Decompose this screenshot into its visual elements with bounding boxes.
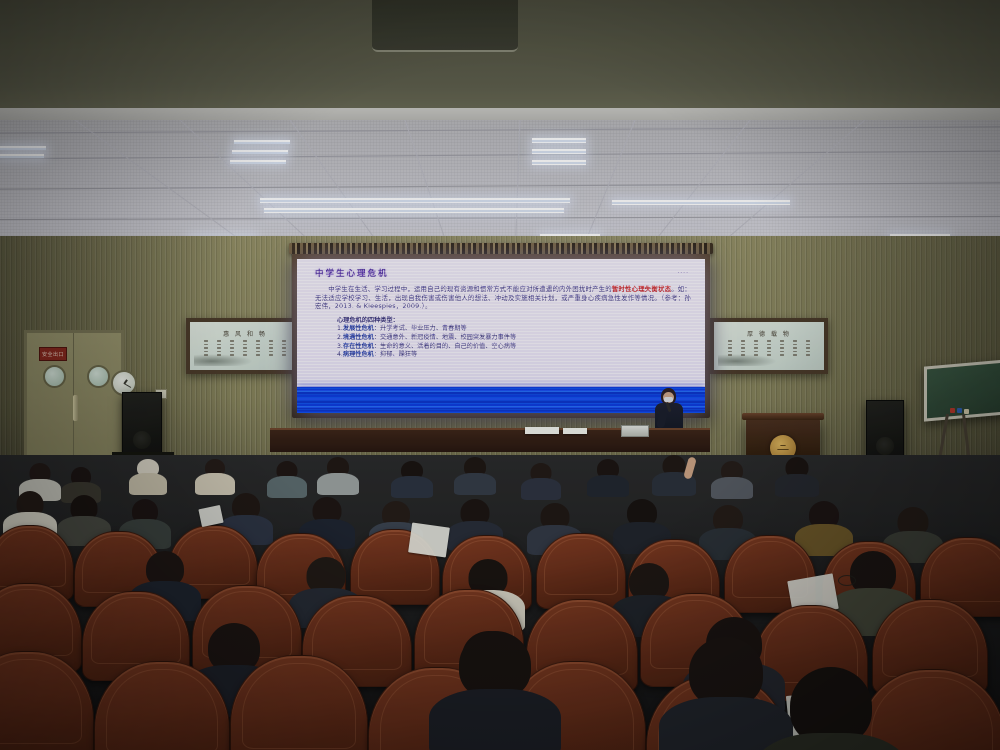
audience-member <box>796 501 852 551</box>
list-item-text: ：抑郁、躁狂等 <box>374 351 417 358</box>
audience-member-foreground <box>756 667 906 750</box>
speaker-cone <box>876 437 894 455</box>
audience-seating-area <box>0 455 1000 750</box>
speaker-cone <box>133 431 151 449</box>
projection-screen-frame: 中学生心理危机 ···· 中学生在生活、学习过程中，运用自己的现有资源和惯常方式… <box>292 254 710 418</box>
person-shoulders <box>129 473 167 495</box>
ink-wash-accent <box>194 354 253 366</box>
list-item-text: ：交通意外、新冠疫情、地震、校园突发暴力事件等 <box>374 334 516 341</box>
paper-stack <box>525 427 559 434</box>
ceiling-light-row <box>260 198 570 203</box>
ceiling-light-panel <box>532 138 586 143</box>
person-shoulders <box>195 473 235 495</box>
raised-arm <box>683 456 697 479</box>
audience-member <box>712 461 752 495</box>
ceiling-vent-panel <box>372 0 518 52</box>
slide-paragraph-part-1: 中学生在生活、学习过程中，运用自己的现有资源和惯常方式不能应对所遭遇的内外困扰时… <box>315 285 612 293</box>
ink-wash-accent <box>718 354 777 366</box>
ceiling-light-panel <box>234 140 290 144</box>
person-shoulders <box>521 478 561 500</box>
audience-member <box>318 457 358 491</box>
list-item-key: 存在性危机 <box>343 343 374 350</box>
person-shoulders <box>711 477 753 499</box>
right-loudspeaker <box>866 400 904 460</box>
laptop-device[interactable] <box>621 425 649 437</box>
list-item-text: ：生命的意义、活着的目的、自己的价值、空心病等 <box>374 343 516 350</box>
door-porthole-window <box>87 365 110 388</box>
slide-highlight-term: 暂时性心理失衡状态 <box>612 285 671 293</box>
list-item-key: 发展性危机 <box>343 325 374 332</box>
audience-member-raising-hand <box>652 455 696 493</box>
list-item-key: 病理性危机 <box>343 351 374 358</box>
audience-member <box>130 459 166 491</box>
list-item-text: ：升学考试、毕业压力、青春期等 <box>374 325 467 332</box>
exit-double-door[interactable]: 安全出口 <box>24 330 124 466</box>
audience-member <box>196 459 234 491</box>
handout-paper <box>408 523 450 558</box>
ceiling-soffit <box>0 0 1000 116</box>
ceiling-light-panel <box>230 160 286 164</box>
audience-member <box>392 461 432 493</box>
person-shoulders <box>454 473 496 495</box>
ceiling-light-row <box>612 200 790 205</box>
projector-blue-band <box>297 387 705 413</box>
audience-member <box>588 459 628 493</box>
ceiling-light-row <box>264 208 564 213</box>
person-shoulders <box>391 476 433 498</box>
audience-member <box>522 463 560 495</box>
audience-member <box>776 457 818 493</box>
framed-calligraphy-left: 惠 风 和 畅 <box>186 318 304 374</box>
slide-list-item: 1.发展性危机：升学考试、毕业压力、青春期等 <box>337 325 691 334</box>
chalk-marker <box>964 409 969 414</box>
audience-member <box>268 461 306 493</box>
door-porthole-window <box>43 365 66 388</box>
podium-top-surface <box>742 413 824 420</box>
clock-minute-hand <box>124 383 131 388</box>
person-shoulders <box>587 475 629 497</box>
person-shoulders <box>317 473 359 495</box>
person-shoulders <box>267 476 307 498</box>
lecture-hall-photo: 安全出口 惠 风 和 畅 厚 德 载 物 <box>0 0 1000 750</box>
framed-calligraphy-right: 厚 德 载 物 <box>710 318 828 374</box>
list-item-key: 境遇性危机 <box>343 334 374 341</box>
presenter-face-mask <box>664 397 673 402</box>
door-leaf-right[interactable] <box>74 333 121 463</box>
eyeglasses-icon <box>838 575 856 586</box>
ceiling-light-panel <box>232 150 288 154</box>
slide-list-item: 3.存在性危机：生命的意义、活着的目的、自己的价值、空心病等 <box>337 343 691 352</box>
slide-title: 中学生心理危机 <box>315 267 691 279</box>
green-chalkboard <box>924 359 1000 421</box>
slide-list: 心理危机的四种类型： 1.发展性危机：升学考试、毕业压力、青春期等 2.境遇性危… <box>315 317 691 360</box>
slide-paragraph: 中学生在生活、学习过程中，运用自己的现有资源和惯常方式不能应对所遭遇的内外困扰时… <box>315 285 691 311</box>
calligraphy-title-right: 厚 德 载 物 <box>714 329 824 338</box>
calligraphy-title-left: 惠 风 和 畅 <box>190 329 300 338</box>
chalk-marker <box>957 408 962 413</box>
audience-member <box>455 457 495 491</box>
slide-list-item: 2.境遇性危机：交通意外、新冠疫情、地震、校园突发暴力事件等 <box>337 334 691 343</box>
person-shoulders <box>775 474 819 497</box>
person-shoulders <box>755 733 907 750</box>
slide-corner-marks: ···· <box>677 270 689 277</box>
exit-sign: 安全出口 <box>39 347 67 361</box>
screen-valance-trim <box>289 243 713 254</box>
door-handle[interactable] <box>73 395 78 421</box>
left-loudspeaker <box>122 392 162 456</box>
ceiling-light-panel <box>0 154 44 158</box>
chalk-marker <box>950 408 955 413</box>
paper-stack <box>563 428 587 434</box>
ceiling-light-panel <box>532 149 586 154</box>
projection-screen[interactable]: 中学生心理危机 ···· 中学生在生活、学习过程中，运用自己的现有资源和惯常方式… <box>297 259 705 413</box>
ceiling-light-panel <box>532 160 586 165</box>
slide-list-item: 4.病理性危机：抑郁、躁狂等 <box>337 351 691 360</box>
ceiling-light-panel <box>0 146 46 150</box>
person-shoulders <box>429 689 561 750</box>
audience-member-foreground <box>430 631 560 750</box>
